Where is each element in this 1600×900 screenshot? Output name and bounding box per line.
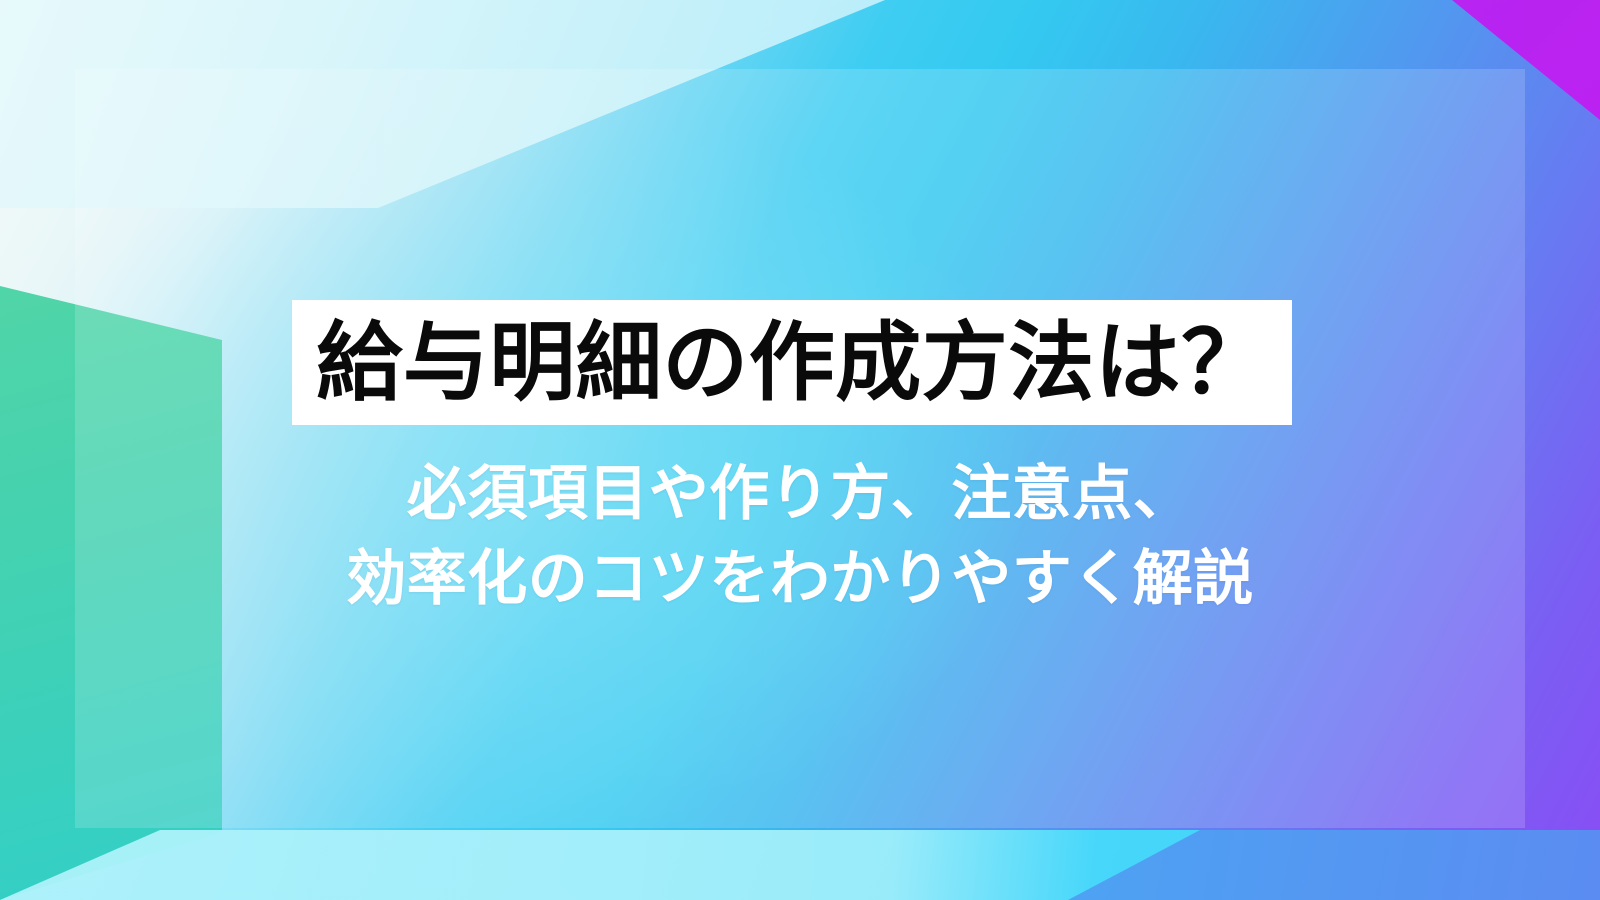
subtitle-line-1: 必須項目や作り方、注意点、 — [0, 452, 1600, 537]
content-area: 給与明細の作成方法は？ 必須項目や作り方、注意点、 効率化のコツをわかりやすく解… — [0, 0, 1600, 900]
subtitle-line-2: 効率化のコツをわかりやすく解説 — [0, 537, 1600, 622]
page-title: 給与明細の作成方法は？ — [316, 320, 1268, 406]
title-highlight-box: 給与明細の作成方法は？ — [292, 300, 1292, 425]
thumbnail-canvas: 給与明細の作成方法は？ 必須項目や作り方、注意点、 効率化のコツをわかりやすく解… — [0, 0, 1600, 900]
subtitle-block: 必須項目や作り方、注意点、 効率化のコツをわかりやすく解説 — [0, 452, 1600, 622]
